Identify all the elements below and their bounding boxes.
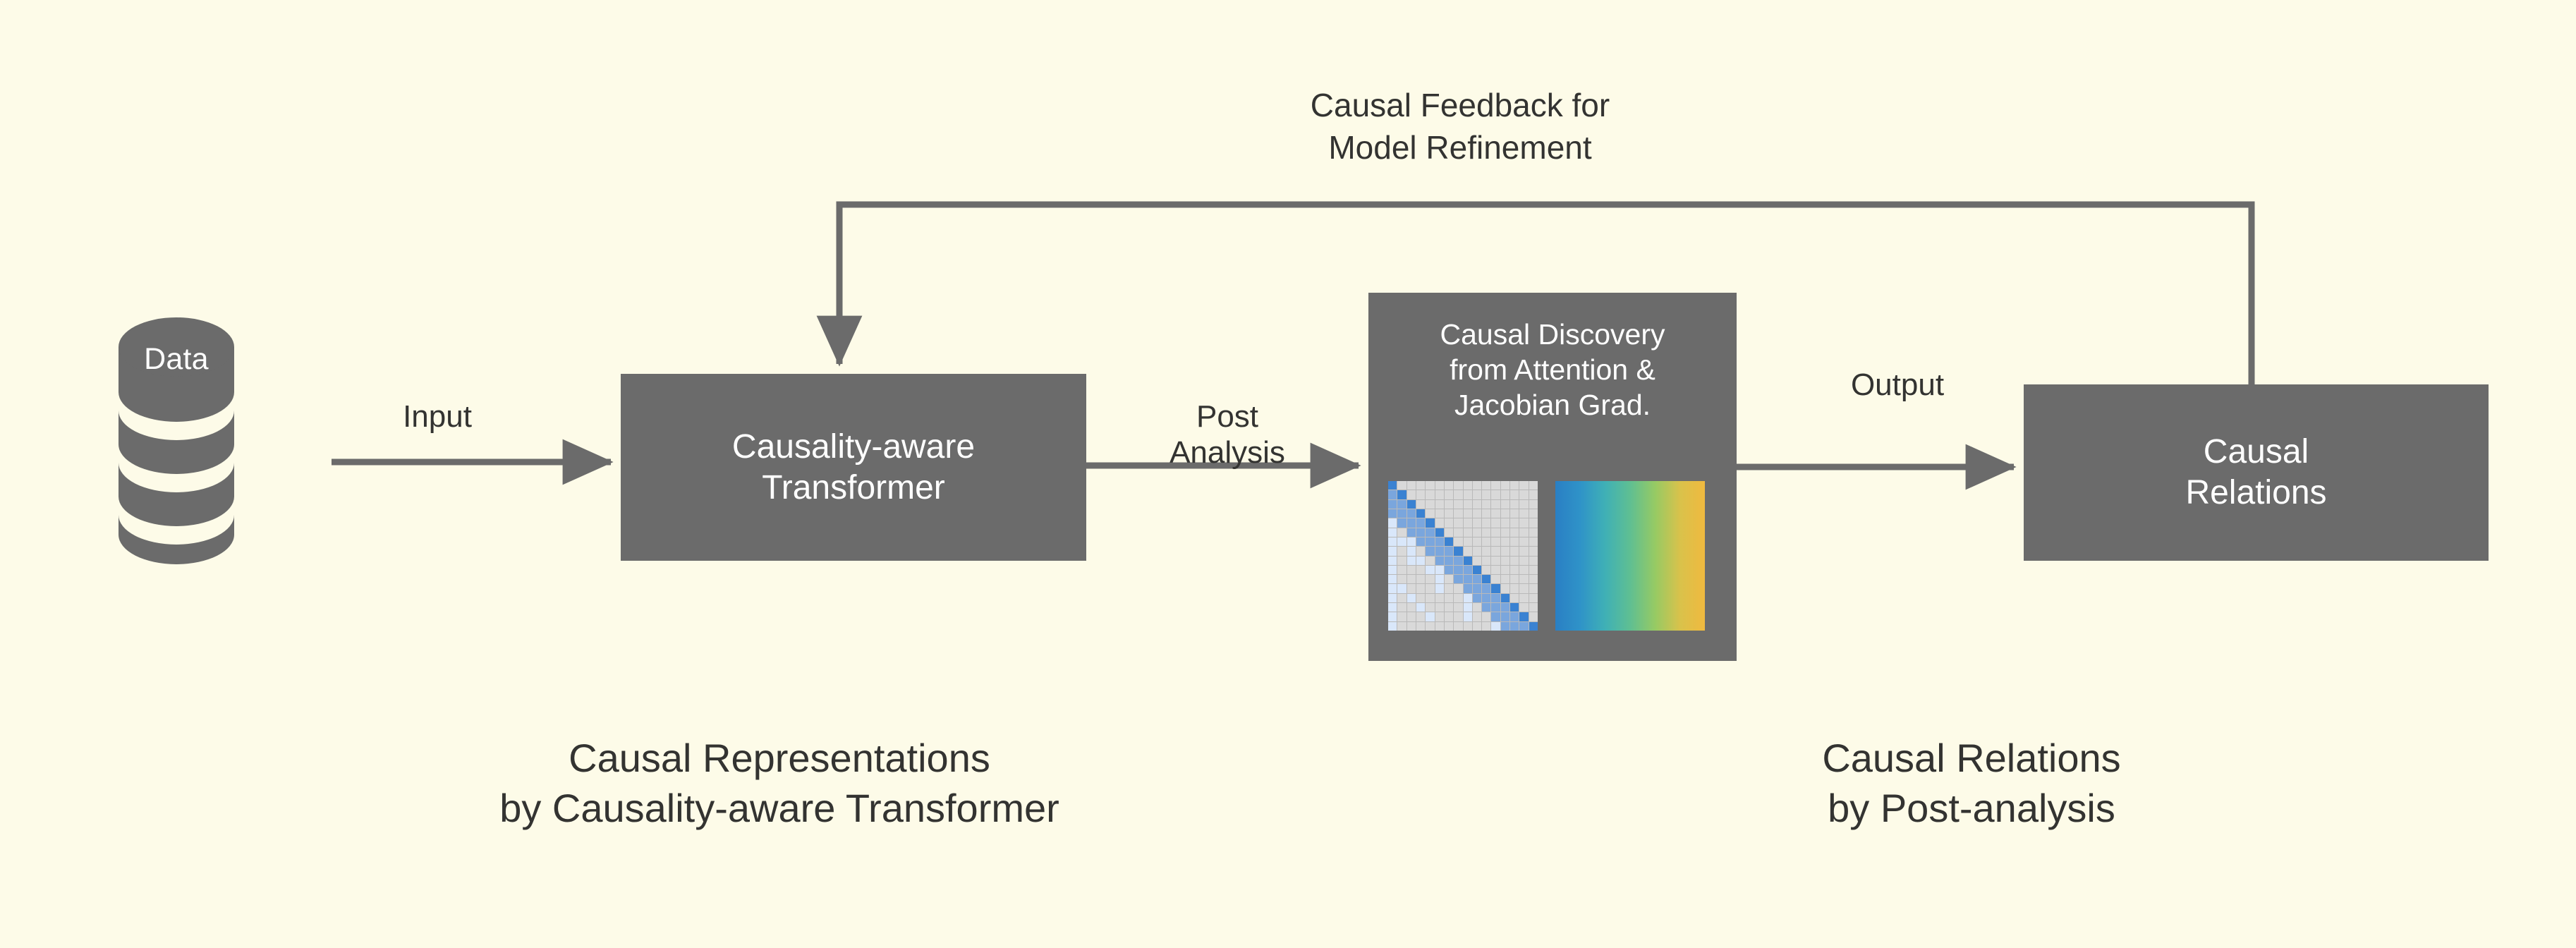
heatmap-cell: [1501, 500, 1509, 509]
heatmap-cell: [1445, 490, 1453, 499]
heatmap-cell: [1464, 500, 1472, 509]
heatmap-cell: [1426, 528, 1434, 537]
heatmap-cell: [1407, 481, 1416, 490]
heatmap-cell: [1397, 537, 1406, 546]
heatmap-cell: [1388, 603, 1397, 612]
heatmap-cell: [1416, 490, 1425, 499]
heatmap-cell: [1519, 518, 1528, 527]
heatmap-cell: [1407, 575, 1416, 583]
heatmap-cell: [1482, 612, 1490, 621]
heatmap-cell: [1529, 603, 1538, 612]
heatmap-cell: [1482, 566, 1490, 574]
heatmap-cell: [1397, 509, 1406, 518]
heatmap-cell: [1482, 481, 1490, 490]
edge-label-input: Input: [353, 399, 522, 435]
heatmap-cell: [1397, 518, 1406, 527]
heatmap-cell: [1464, 557, 1472, 565]
heatmap-cell: [1464, 594, 1472, 602]
heatmap-cell: [1397, 622, 1406, 631]
heatmap-cell: [1388, 500, 1397, 509]
heatmap-cell: [1454, 622, 1462, 631]
heatmap-cell: [1510, 490, 1519, 499]
heatmap-cell: [1482, 500, 1490, 509]
heatmap-cell: [1416, 537, 1425, 546]
heatmap-cell: [1416, 566, 1425, 574]
heatmap-cell: [1510, 612, 1519, 621]
heatmap-cell: [1464, 584, 1472, 592]
heatmap-cell: [1445, 547, 1453, 555]
heatmap-cell: [1435, 612, 1444, 621]
heatmap-cell: [1388, 528, 1397, 537]
heatmap-cell: [1491, 547, 1500, 555]
heatmap-cell: [1426, 500, 1434, 509]
heatmap-cell: [1482, 518, 1490, 527]
heatmap-cell: [1510, 622, 1519, 631]
heatmap-cell: [1501, 481, 1509, 490]
heatmap-cell: [1445, 481, 1453, 490]
heatmap-cell: [1407, 612, 1416, 621]
heatmap-cell: [1491, 575, 1500, 583]
heatmap-cell: [1416, 509, 1425, 518]
heatmap-cell: [1501, 528, 1509, 537]
heatmap-cell: [1501, 490, 1509, 499]
heatmap-cell: [1501, 584, 1509, 592]
heatmap-cell: [1407, 584, 1416, 592]
heatmap-cell: [1491, 481, 1500, 490]
heatmap-cell: [1407, 594, 1416, 602]
heatmap-cell: [1510, 547, 1519, 555]
heatmap-cell: [1388, 509, 1397, 518]
heatmap-cell: [1445, 622, 1453, 631]
heatmap-cell: [1482, 622, 1490, 631]
heatmap-cell: [1445, 612, 1453, 621]
heatmap-cell: [1491, 537, 1500, 546]
heatmap-cell: [1435, 537, 1444, 546]
heatmap-cell: [1397, 584, 1406, 592]
heatmap-cell: [1501, 612, 1509, 621]
heatmap-cell: [1491, 594, 1500, 602]
heatmap-cell: [1454, 557, 1462, 565]
heatmap-cell: [1464, 566, 1472, 574]
heatmap-cell: [1482, 509, 1490, 518]
heatmap-cell: [1464, 518, 1472, 527]
heatmap-cell: [1501, 509, 1509, 518]
heatmap-cell: [1529, 584, 1538, 592]
heatmap-cell: [1473, 612, 1481, 621]
heatmap-cell: [1529, 490, 1538, 499]
heatmap-cell: [1529, 509, 1538, 518]
heatmap-cell: [1464, 622, 1472, 631]
heatmap-cell: [1519, 612, 1528, 621]
heatmap-cell: [1501, 566, 1509, 574]
heatmap-cell: [1473, 603, 1481, 612]
heatmap-cell: [1397, 575, 1406, 583]
heatmap-cell: [1501, 603, 1509, 612]
heatmap-cell: [1529, 575, 1538, 583]
heatmap-cell: [1388, 622, 1397, 631]
heatmap-cell: [1491, 622, 1500, 631]
data-source-label: Data: [119, 342, 234, 377]
heatmap-cell: [1416, 603, 1425, 612]
heatmap-cell: [1473, 557, 1481, 565]
heatmap-cell: [1407, 509, 1416, 518]
heatmap-cell: [1416, 584, 1425, 592]
heatmap-cell: [1445, 557, 1453, 565]
heatmap-cell: [1416, 575, 1425, 583]
heatmap-cell: [1529, 528, 1538, 537]
heatmap-cell: [1435, 594, 1444, 602]
heatmap-cell: [1454, 518, 1462, 527]
heatmap-cell: [1445, 518, 1453, 527]
heatmap-cell: [1435, 575, 1444, 583]
heatmap-cell: [1416, 612, 1425, 621]
edge-label-causal-feedback: Causal Feedback for Model Refinement: [1185, 85, 1735, 169]
heatmap-cell: [1426, 547, 1434, 555]
heatmap-cell: [1482, 537, 1490, 546]
heatmap-cell: [1519, 603, 1528, 612]
heatmap-cell: [1416, 500, 1425, 509]
heatmap-cell: [1426, 537, 1434, 546]
heatmap-cell: [1510, 481, 1519, 490]
heatmap-cell: [1491, 509, 1500, 518]
heatmap-cell: [1519, 481, 1528, 490]
heatmap-cell: [1519, 547, 1528, 555]
heatmap-cell: [1416, 547, 1425, 555]
heatmap-cell: [1491, 518, 1500, 527]
heatmap-cell: [1454, 584, 1462, 592]
heatmap-cell: [1519, 575, 1528, 583]
heatmap-cell: [1464, 547, 1472, 555]
heatmap-cell: [1491, 490, 1500, 499]
heatmap-cell: [1501, 622, 1509, 631]
heatmap-cell: [1388, 518, 1397, 527]
analysis-node[interactable]: Causal Discovery from Attention & Jacobi…: [1368, 293, 1737, 661]
heatmap-cell: [1482, 547, 1490, 555]
caption-right: Causal Relations by Post-analysis: [1587, 734, 2356, 833]
heatmap-cell: [1435, 603, 1444, 612]
heatmap-cell: [1510, 594, 1519, 602]
heatmap-cell: [1482, 528, 1490, 537]
heatmap-cell: [1501, 547, 1509, 555]
heatmap-cell: [1426, 490, 1434, 499]
heatmap-cell: [1519, 509, 1528, 518]
heatmap-cell: [1529, 612, 1538, 621]
heatmap-cell: [1407, 537, 1416, 546]
heatmap-cell: [1454, 612, 1462, 621]
heatmap-cell: [1416, 594, 1425, 602]
heatmap-cell: [1519, 566, 1528, 574]
heatmap-cell: [1407, 500, 1416, 509]
heatmap-cell: [1501, 594, 1509, 602]
heatmap-cell: [1519, 594, 1528, 602]
heatmap-cell: [1388, 481, 1397, 490]
heatmap-cell: [1519, 528, 1528, 537]
heatmap-cell: [1435, 500, 1444, 509]
heatmap-cell: [1445, 584, 1453, 592]
heatmap-cell: [1473, 518, 1481, 527]
heatmap-cell: [1510, 537, 1519, 546]
heatmap-cell: [1435, 566, 1444, 574]
heatmap-cell: [1435, 547, 1444, 555]
heatmap-cell: [1435, 622, 1444, 631]
heatmap-cell: [1510, 518, 1519, 527]
heatmap-cell: [1416, 557, 1425, 565]
heatmap-cell: [1426, 566, 1434, 574]
heatmap-cell: [1510, 500, 1519, 509]
heatmap-cell: [1445, 575, 1453, 583]
heatmap-cell: [1519, 500, 1528, 509]
attention-heatmap: [1388, 481, 1538, 631]
heatmap-cell: [1397, 500, 1406, 509]
heatmap-cell: [1482, 603, 1490, 612]
heatmap-cell: [1397, 490, 1406, 499]
heatmap-cell: [1407, 518, 1416, 527]
heatmap-cell: [1388, 612, 1397, 621]
heatmap-cell: [1397, 612, 1406, 621]
heatmap-cell: [1501, 557, 1509, 565]
heatmap-cell: [1519, 537, 1528, 546]
heatmap-cell: [1510, 509, 1519, 518]
heatmap-cell: [1454, 528, 1462, 537]
heatmap-cell: [1445, 537, 1453, 546]
heatmap-cell: [1416, 481, 1425, 490]
analysis-title: Causal Discovery from Attention & Jacobi…: [1368, 317, 1737, 423]
heatmap-cell: [1388, 566, 1397, 574]
heatmap-cell: [1464, 481, 1472, 490]
heatmap-cell: [1397, 566, 1406, 574]
data-source-node: Data: [119, 317, 234, 564]
heatmap-cell: [1473, 594, 1481, 602]
edge-label-post-analysis: Post Analysis: [1100, 399, 1354, 470]
heatmap-cell: [1454, 490, 1462, 499]
heatmap-cell: [1426, 603, 1434, 612]
heatmap-cell: [1454, 481, 1462, 490]
heatmap-cell: [1491, 566, 1500, 574]
heatmap-cell: [1464, 575, 1472, 583]
heatmap-cell: [1407, 566, 1416, 574]
heatmap-cell: [1454, 594, 1462, 602]
heatmap-cell: [1426, 575, 1434, 583]
heatmap-cell: [1510, 603, 1519, 612]
heatmap-cell: [1454, 547, 1462, 555]
heatmap-cell: [1435, 528, 1444, 537]
heatmap-cell: [1426, 481, 1434, 490]
heatmap-cell: [1529, 481, 1538, 490]
caption-left: Causal Representations by Causality-awar…: [353, 734, 1206, 833]
heatmap-cell: [1473, 622, 1481, 631]
heatmap-cell: [1473, 490, 1481, 499]
heatmap-cell: [1491, 500, 1500, 509]
heatmap-cell: [1397, 528, 1406, 537]
heatmap-cell: [1454, 575, 1462, 583]
heatmap-cell: [1416, 518, 1425, 527]
heatmap-cell: [1426, 584, 1434, 592]
heatmap-cell: [1510, 557, 1519, 565]
heatmap-cell: [1473, 481, 1481, 490]
heatmap-cell: [1426, 518, 1434, 527]
heatmap-cell: [1416, 528, 1425, 537]
heatmap-cell: [1445, 603, 1453, 612]
heatmap-cell: [1473, 500, 1481, 509]
heatmap-cell: [1491, 612, 1500, 621]
heatmap-cell: [1491, 528, 1500, 537]
heatmap-cell: [1388, 594, 1397, 602]
transformer-label: Causality-aware Transformer: [732, 427, 975, 508]
heatmap-cell: [1529, 566, 1538, 574]
heatmap-cell: [1491, 557, 1500, 565]
heatmap-cell: [1464, 612, 1472, 621]
heatmap-cell: [1473, 575, 1481, 583]
heatmap-cell: [1426, 622, 1434, 631]
heatmap-cell: [1501, 518, 1509, 527]
heatmap-cell: [1529, 594, 1538, 602]
heatmap-cell: [1426, 594, 1434, 602]
heatmap-cell: [1473, 537, 1481, 546]
heatmap-cell: [1388, 547, 1397, 555]
heatmap-cell: [1407, 547, 1416, 555]
heatmap-cell: [1397, 594, 1406, 602]
heatmap-cell: [1435, 490, 1444, 499]
heatmap-cell: [1388, 557, 1397, 565]
heatmap-cell: [1407, 528, 1416, 537]
heatmap-cell: [1482, 594, 1490, 602]
heatmap-cell: [1510, 566, 1519, 574]
heatmap-cell: [1454, 537, 1462, 546]
heatmap-cell: [1435, 509, 1444, 518]
heatmap-cell: [1491, 584, 1500, 592]
heatmap-cell: [1388, 584, 1397, 592]
heatmap-cell: [1473, 584, 1481, 592]
heatmap-cell: [1388, 537, 1397, 546]
heatmap-cell: [1501, 537, 1509, 546]
heatmap-cell: [1397, 547, 1406, 555]
heatmap-cell: [1454, 603, 1462, 612]
heatmap-cell: [1529, 622, 1538, 631]
heatmap-cell: [1510, 528, 1519, 537]
heatmap-cell: [1435, 518, 1444, 527]
heatmap-cell: [1491, 603, 1500, 612]
heatmap-cell: [1445, 500, 1453, 509]
causal-relations-label: Causal Relations: [2185, 432, 2326, 513]
heatmap-cell: [1519, 622, 1528, 631]
heatmap-cell: [1426, 612, 1434, 621]
heatmap-cell: [1407, 622, 1416, 631]
heatmap-cell: [1397, 603, 1406, 612]
heatmap-cell: [1519, 584, 1528, 592]
heatmap-cell: [1407, 557, 1416, 565]
edge-label-output: Output: [1785, 367, 2010, 403]
heatmap-cell: [1454, 509, 1462, 518]
heatmap-cell: [1426, 557, 1434, 565]
jacobian-gradient-map: [1555, 481, 1705, 631]
heatmap-cell: [1435, 481, 1444, 490]
heatmap-cell: [1464, 490, 1472, 499]
heatmap-cell: [1501, 575, 1509, 583]
heatmap-cell: [1445, 509, 1453, 518]
heatmap-cell: [1482, 490, 1490, 499]
heatmap-cell: [1519, 557, 1528, 565]
heatmap-cell: [1407, 490, 1416, 499]
heatmap-cell: [1445, 528, 1453, 537]
diagram-canvas: Data Causality-aware Transformer Causal …: [0, 0, 2576, 948]
heatmap-cell: [1388, 575, 1397, 583]
heatmap-cell: [1529, 500, 1538, 509]
heatmap-cell: [1454, 566, 1462, 574]
heatmap-cell: [1529, 518, 1538, 527]
heatmap-cell: [1464, 537, 1472, 546]
heatmap-cell: [1510, 575, 1519, 583]
heatmap-cell: [1464, 603, 1472, 612]
causal-relations-node[interactable]: Causal Relations: [2024, 384, 2489, 561]
heatmap-cell: [1473, 509, 1481, 518]
heatmap-cell: [1529, 547, 1538, 555]
heatmap-cell: [1510, 584, 1519, 592]
heatmap-cell: [1473, 547, 1481, 555]
heatmap-cell: [1397, 481, 1406, 490]
heatmap-cell: [1482, 557, 1490, 565]
transformer-node[interactable]: Causality-aware Transformer: [621, 374, 1086, 561]
heatmap-cell: [1388, 490, 1397, 499]
heatmap-cell: [1482, 584, 1490, 592]
heatmap-cell: [1426, 509, 1434, 518]
heatmap-cell: [1529, 557, 1538, 565]
heatmap-cell: [1464, 528, 1472, 537]
heatmap-cell: [1464, 509, 1472, 518]
heatmap-cell: [1473, 528, 1481, 537]
heatmap-cell: [1397, 557, 1406, 565]
heatmap-cell: [1473, 566, 1481, 574]
heatmap-cell: [1435, 557, 1444, 565]
heatmap-cell: [1416, 622, 1425, 631]
heatmap-cell: [1482, 575, 1490, 583]
heatmap-cell: [1445, 594, 1453, 602]
heatmap-cell: [1519, 490, 1528, 499]
heatmap-cell: [1407, 603, 1416, 612]
heatmap-cell: [1435, 584, 1444, 592]
heatmap-cell: [1445, 566, 1453, 574]
heatmap-cell: [1454, 500, 1462, 509]
heatmap-cell: [1529, 537, 1538, 546]
